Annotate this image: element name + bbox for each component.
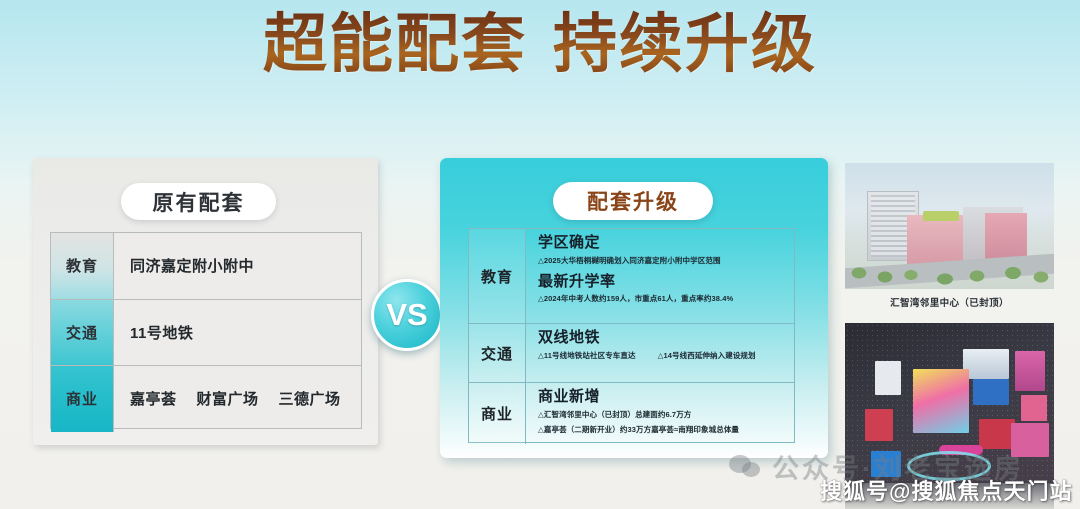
table-row: 教育 同济嘉定附小附中 [51, 233, 361, 300]
new-facilities-pill: 配套升级 [553, 182, 713, 220]
photo-led-screen [973, 379, 1009, 405]
photo-led-screen [979, 419, 1015, 449]
neighborhood-center-photo [845, 163, 1054, 289]
old-row-label-commerce: 商业 [51, 366, 114, 432]
commerce-item: 嘉亭荟 [130, 388, 177, 409]
new-edu-heading-1: 学区确定 [538, 234, 794, 253]
new-transport-notes: △11号线地铁站社区专车直达 △14号线西延伸纳入建设规划 [538, 348, 794, 361]
new-commerce-note-2: △嘉亭荟（二期新开业）约33万方嘉亭荟≈南翔印象城总体量 [538, 425, 794, 435]
new-transport-heading: 双线地铁 [538, 329, 794, 348]
title-text: 超能配套持续升级 [263, 8, 817, 82]
sohu-watermark: 搜狐号@搜狐焦点天门站 [820, 474, 1072, 506]
title-part-2: 持续升级 [553, 9, 817, 80]
new-row-value-commerce: 商业新增 △汇智湾邻里中心（已封顶）总建面约6.7万方 △嘉亭荟（二期新开业）约… [526, 383, 794, 444]
vs-badge-label: VS [386, 297, 427, 333]
commerce-item: 财富广场 [197, 388, 259, 409]
photo-trees [845, 251, 1054, 285]
photo-led-screen [1021, 395, 1047, 421]
new-row-value-education: 学区确定 △2025大华梧桐樾明确划入同济嘉定附小附中学区范围 最新升学率 △2… [526, 229, 794, 323]
neighborhood-center-caption: 汇智湾邻里中心（已封顶） [845, 295, 1054, 309]
photo-led-screen [875, 361, 901, 395]
old-row-value-transport: 11号地铁 [114, 300, 361, 366]
title-part-1: 超能配套 [263, 9, 527, 80]
old-row-value-education: 同济嘉定附小附中 [114, 233, 361, 299]
photo-led-screen [865, 409, 893, 441]
new-commerce-heading: 商业新增 [538, 388, 794, 407]
page-title: 超能配套持续升级 [0, 8, 1080, 82]
photo-led-screen [1015, 351, 1045, 391]
new-edu-note-1: △2025大华梧桐樾明确划入同济嘉定附小附中学区范围 [538, 256, 794, 266]
new-row-label-transport: 交通 [469, 324, 526, 382]
table-row: 交通 11号地铁 [51, 300, 361, 367]
photo-led-screen [913, 369, 969, 433]
vs-badge: VS [371, 279, 443, 351]
table-row: 交通 双线地铁 △11号线地铁站社区专车直达 △14号线西延伸纳入建设规划 [469, 324, 794, 383]
new-facilities-table: 教育 学区确定 △2025大华梧桐樾明确划入同济嘉定附小附中学区范围 最新升学率… [468, 228, 795, 443]
old-row-value-commerce: 嘉亭荟 财富广场 三德广场 [114, 366, 361, 432]
new-edu-note-2: △2024年中考人数约159人，市重点61人，重点率约38.4% [538, 294, 794, 304]
new-transport-note-1: △11号线地铁站社区专车直达 [538, 351, 636, 361]
wechat-icon [729, 455, 763, 479]
new-edu-heading-2: 最新升学率 [538, 273, 794, 292]
table-row: 商业 商业新增 △汇智湾邻里中心（已封顶）总建面约6.7万方 △嘉亭荟（二期新开… [469, 383, 794, 444]
table-row: 教育 学区确定 △2025大华梧桐樾明确划入同济嘉定附小附中学区范围 最新升学率… [469, 229, 794, 324]
table-row: 商业 嘉亭荟 财富广场 三德广场 [51, 366, 361, 432]
old-facilities-pill: 原有配套 [121, 183, 276, 220]
new-transport-note-2: △14号线西延伸纳入建设规划 [658, 351, 756, 361]
commerce-item: 三德广场 [279, 388, 341, 409]
new-row-value-transport: 双线地铁 △11号线地铁站社区专车直达 △14号线西延伸纳入建设规划 [526, 324, 794, 382]
photo-rooftop-garden [923, 211, 959, 221]
old-row-label-transport: 交通 [51, 300, 114, 366]
new-row-label-commerce: 商业 [469, 383, 526, 444]
new-row-label-education: 教育 [469, 229, 526, 323]
old-row-label-education: 教育 [51, 233, 114, 299]
photo-led-screen [963, 349, 1009, 379]
new-facilities-pill-label: 配套升级 [587, 186, 679, 216]
new-commerce-note-1: △汇智湾邻里中心（已封顶）总建面约6.7万方 [538, 410, 794, 420]
old-facilities-pill-label: 原有配套 [153, 187, 245, 217]
old-facilities-table: 教育 同济嘉定附小附中 交通 11号地铁 商业 嘉亭荟 财富广场 三德广场 [50, 232, 362, 429]
